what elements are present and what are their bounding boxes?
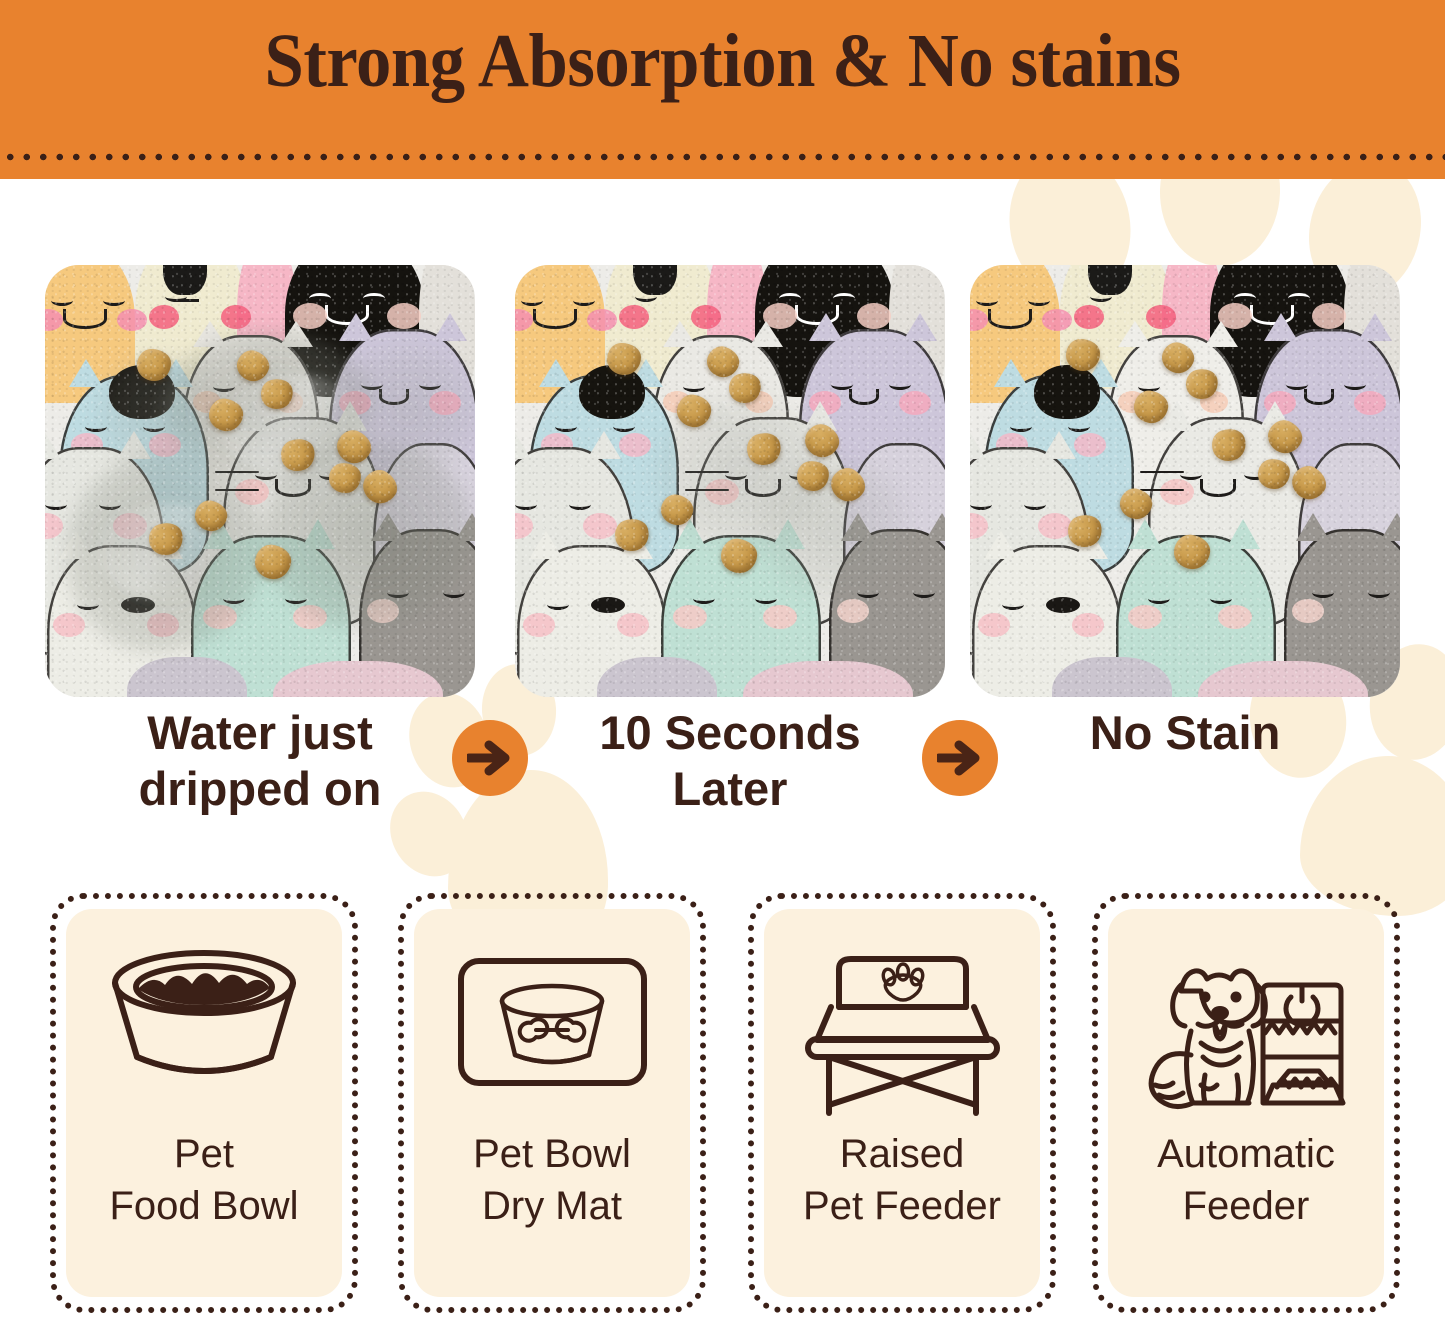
usage-card-label: Raised Pet Feeder — [803, 1128, 1001, 1232]
usage-card-pet-bowl-dry-mat: Pet Bowl Dry Mat — [398, 893, 706, 1313]
header-banner: Strong Absorption & No stains — [0, 0, 1445, 179]
usage-card-pet-food-bowl: Pet Food Bowl — [50, 893, 358, 1313]
label-line-2: Feeder — [1157, 1180, 1335, 1232]
cat-pattern-mat-1 — [45, 265, 475, 697]
automatic-feeder-icon — [1139, 935, 1354, 1120]
demo-caption-1: Water just dripped on — [45, 705, 475, 817]
raised-pet-feeder-icon — [795, 935, 1010, 1120]
demo-caption-3: No Stain — [970, 705, 1400, 761]
demo-caption-2: 10 Seconds Later — [515, 705, 945, 817]
usage-card-raised-pet-feeder: Raised Pet Feeder — [748, 893, 1056, 1313]
dotted-divider — [0, 151, 1445, 163]
caption-line-2: dripped on — [45, 761, 475, 817]
usage-card-label: Automatic Feeder — [1157, 1128, 1335, 1232]
pet-food-bowl-icon — [97, 935, 312, 1120]
label-line-1: Automatic — [1157, 1132, 1335, 1176]
label-line-2: Pet Feeder — [803, 1180, 1001, 1232]
absorption-demo-row — [0, 265, 1445, 697]
label-line-2: Food Bowl — [110, 1180, 299, 1232]
demo-captions: Water just dripped on 10 Seconds Later N… — [0, 705, 1445, 825]
demo-photo-1 — [45, 265, 475, 697]
label-line-1: Pet — [174, 1132, 234, 1176]
caption-line-1: 10 Seconds — [599, 706, 860, 759]
usage-card-automatic-feeder: Automatic Feeder — [1092, 893, 1400, 1313]
caption-line-1: Water just — [147, 706, 372, 759]
label-line-2: Dry Mat — [473, 1180, 631, 1232]
demo-photo-2 — [515, 265, 945, 697]
cat-pattern-mat-3 — [970, 265, 1400, 697]
usage-cards-row: Pet Food Bowl — [0, 893, 1445, 1313]
usage-card-label: Pet Bowl Dry Mat — [473, 1128, 631, 1232]
caption-line-1: No Stain — [1090, 706, 1281, 759]
caption-line-2: Later — [515, 761, 945, 817]
label-line-1: Raised — [840, 1132, 965, 1176]
demo-photo-3 — [970, 265, 1400, 697]
pet-bowl-dry-mat-icon — [445, 935, 660, 1120]
label-line-1: Pet Bowl — [473, 1132, 631, 1176]
cat-pattern-mat-2 — [515, 265, 945, 697]
infographic-page: Strong Absorption & No stains — [0, 0, 1445, 1342]
usage-card-label: Pet Food Bowl — [110, 1128, 299, 1232]
page-title: Strong Absorption & No stains — [264, 22, 1180, 102]
